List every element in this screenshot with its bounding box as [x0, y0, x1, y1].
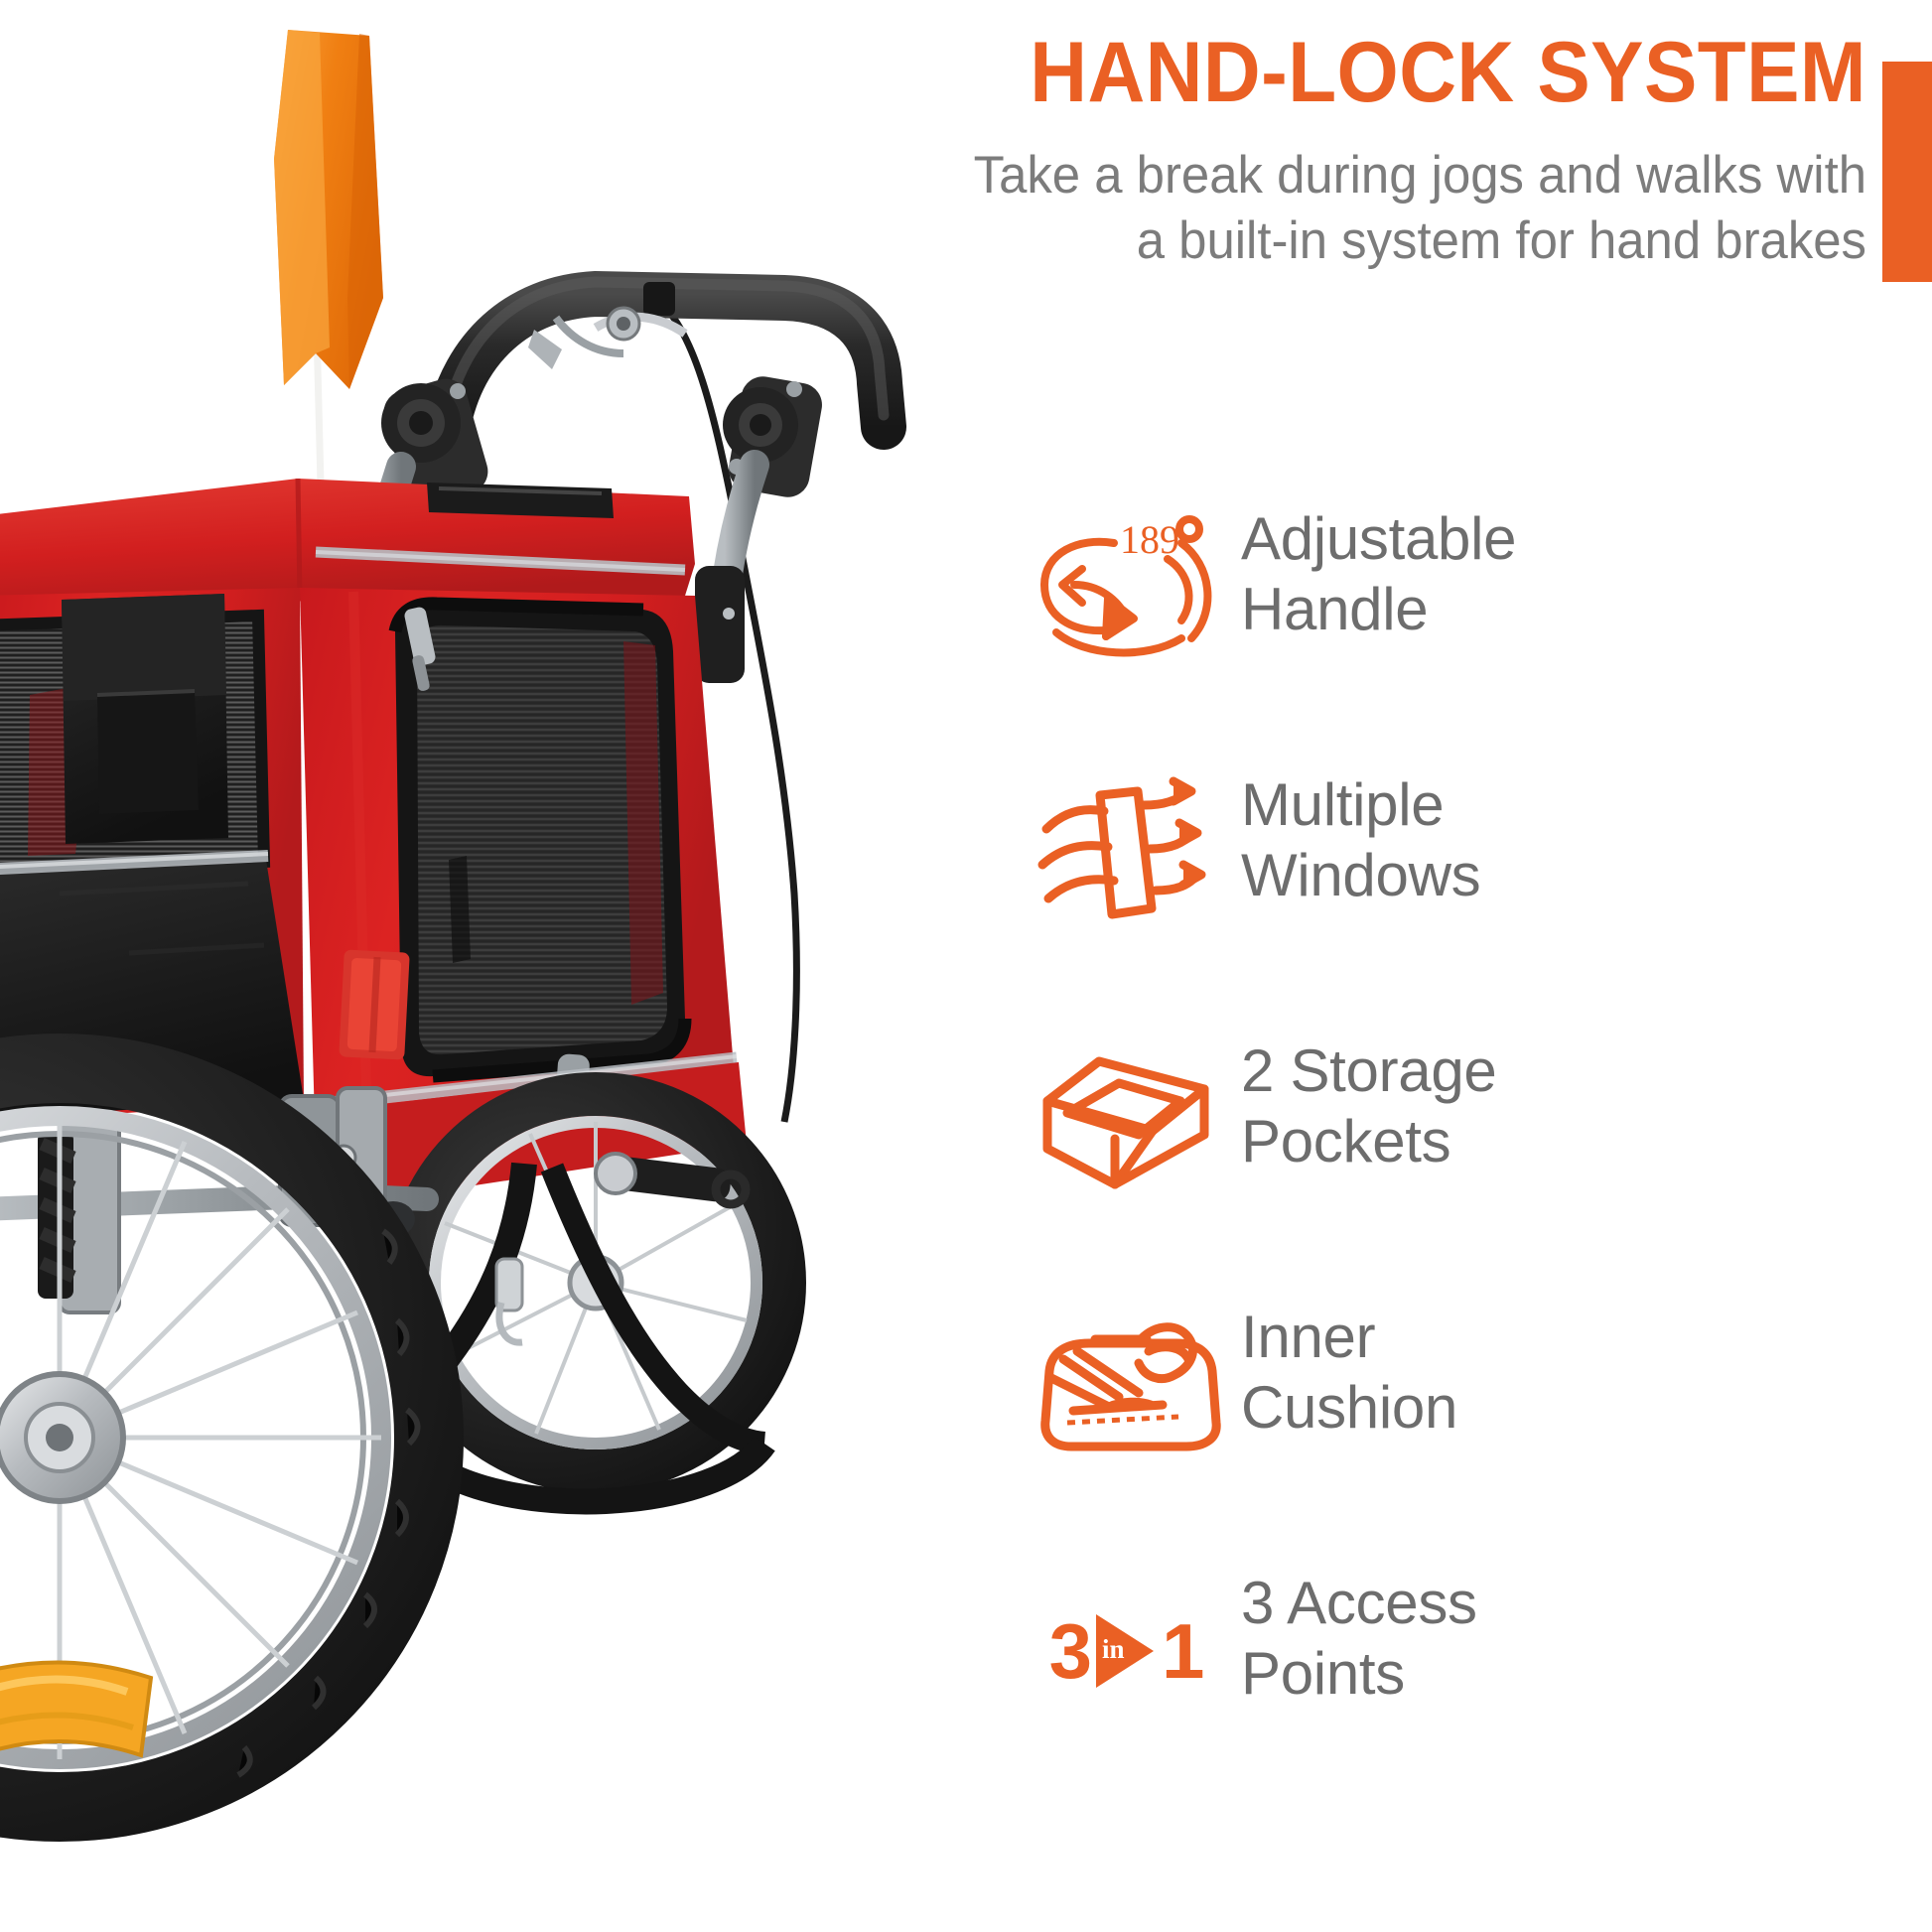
- open-box-pocket-icon: [1013, 1029, 1241, 1203]
- subtitle-line-1: Take a break during jogs and walks with: [974, 146, 1866, 205]
- three-in-one-icon: 3 in 1: [1013, 1561, 1241, 1735]
- page-title: HAND-LOCK SYSTEM: [777, 30, 1866, 117]
- feature-item-adjustable-handle: 189 Adjustable Handle: [1013, 496, 1906, 762]
- feature-label-line-2: Pockets: [1241, 1107, 1497, 1177]
- feature-label-line-2: Cushion: [1241, 1373, 1457, 1444]
- trailer-canopy-top: [0, 479, 695, 606]
- feature-label-line-1: 2 Storage: [1241, 1037, 1497, 1104]
- feature-label-line-1: Adjustable: [1241, 505, 1516, 572]
- spoke-reflector-amber: [0, 1662, 151, 1755]
- badge-number-right: 1: [1162, 1612, 1204, 1690]
- rotation-189-degrees-icon: 189: [1013, 496, 1241, 671]
- feature-label-line-2: Windows: [1241, 841, 1480, 911]
- feature-label-storage-pockets: 2 Storage Pockets: [1241, 1029, 1497, 1177]
- feature-item-multiple-windows: Multiple Windows: [1013, 762, 1906, 1029]
- page-subtitle: Take a break during jogs and walks with …: [742, 143, 1866, 275]
- feature-label-line-1: 3 Access: [1241, 1570, 1477, 1636]
- product-infographic-page: HAND-LOCK SYSTEM Take a break during jog…: [0, 0, 1932, 1932]
- subtitle-line-2: a built-in system for hand brakes: [1137, 211, 1866, 270]
- feature-label-inner-cushion: Inner Cushion: [1241, 1295, 1457, 1444]
- rear-reflector-red: [339, 949, 410, 1059]
- badge-triangle-icon: in: [1096, 1614, 1158, 1688]
- feature-item-inner-cushion: Inner Cushion: [1013, 1295, 1906, 1561]
- feature-list: 189 Adjustable Handle: [1013, 496, 1906, 1827]
- badge-number-left: 3: [1049, 1612, 1092, 1690]
- rotation-degrees-value: 189: [1120, 517, 1179, 562]
- feature-label-adjustable-handle: Adjustable Handle: [1241, 496, 1516, 645]
- feature-label-line-1: Inner: [1241, 1304, 1375, 1370]
- rear-mesh-window: [395, 604, 685, 1076]
- airflow-window-icon: [1013, 762, 1241, 937]
- badge-in-text: in: [1102, 1636, 1125, 1663]
- storage-pocket-left: [62, 594, 228, 844]
- hand-on-cushion-icon: [1013, 1295, 1241, 1469]
- handle-mount-right: [695, 566, 745, 683]
- three-in-one-badge: 3 in 1: [1049, 1612, 1205, 1690]
- feature-label-access-points: 3 Access Points: [1241, 1561, 1477, 1710]
- feature-label-line-2: Handle: [1241, 575, 1516, 645]
- feature-item-access-points: 3 in 1 3 Access Points: [1013, 1561, 1906, 1827]
- feature-label-line-2: Points: [1241, 1639, 1477, 1710]
- product-photo: [0, 0, 1052, 1932]
- feature-label-line-1: Multiple: [1241, 771, 1444, 838]
- accent-bar: [1882, 62, 1932, 282]
- header-block: HAND-LOCK SYSTEM Take a break during jog…: [695, 30, 1866, 274]
- feature-label-multiple-windows: Multiple Windows: [1241, 762, 1480, 911]
- feature-item-storage-pockets: 2 Storage Pockets: [1013, 1029, 1906, 1295]
- strap-clip: [496, 1259, 522, 1342]
- suspension-assembly: [38, 1114, 119, 1312]
